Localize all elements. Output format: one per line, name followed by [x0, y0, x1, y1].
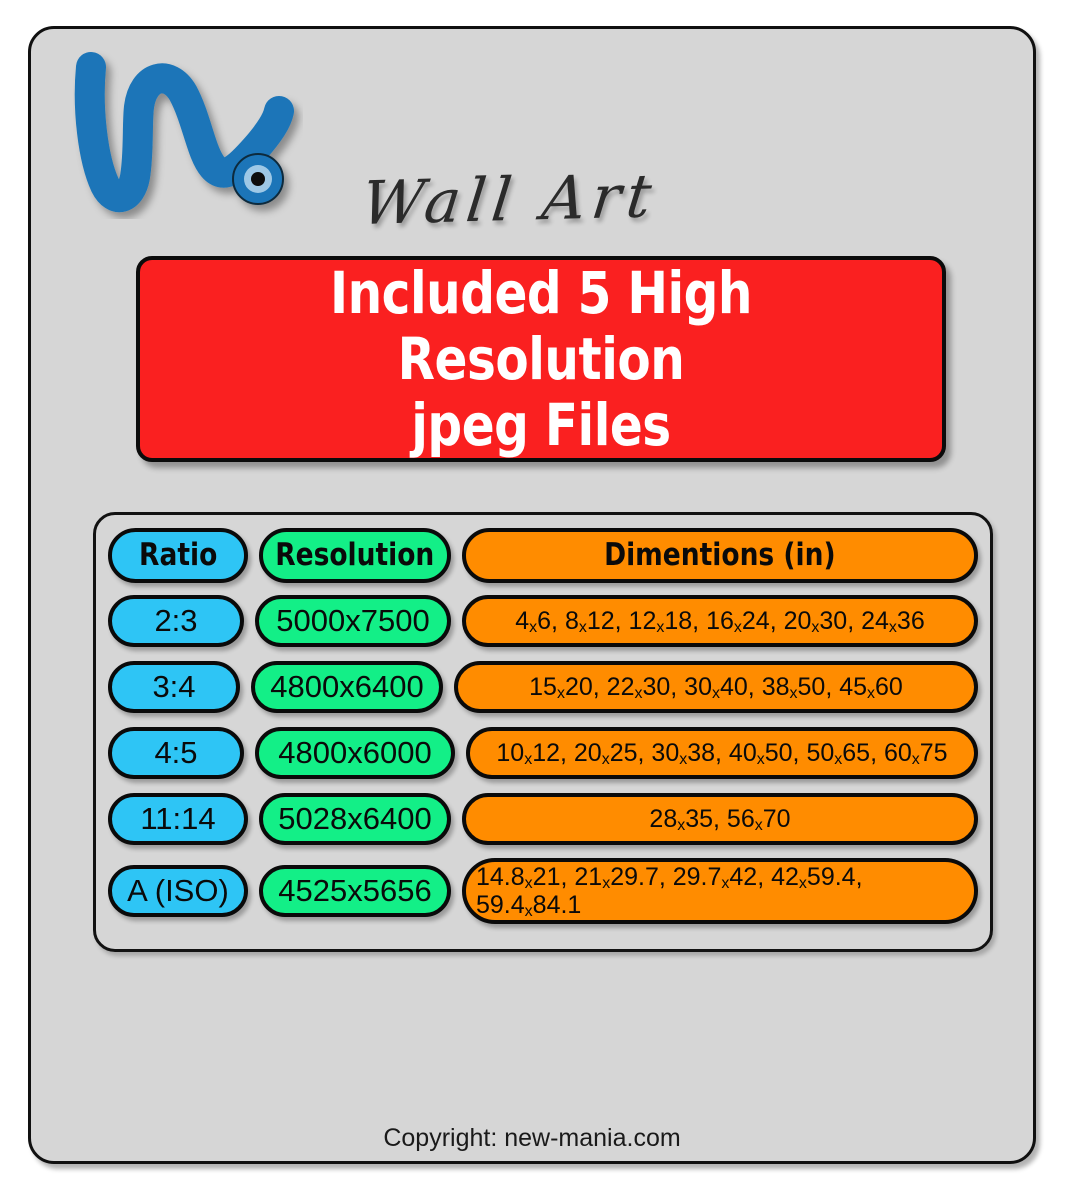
cell-resolution-value: 4525x5656 — [278, 873, 431, 909]
cell-ratio-value: 2:3 — [154, 603, 197, 639]
cell-resolution: 5028x6400 — [259, 793, 451, 845]
cell-resolution-value: 5000x7500 — [276, 603, 429, 639]
cell-dimensions-value: 10x12, 20x25, 30x38, 40x50, 50x65, 60x75 — [486, 739, 957, 767]
cell-dimensions: 15x20, 22x30, 30x40, 38x50, 45x60 — [454, 661, 978, 713]
cell-ratio: A (ISO) — [108, 865, 248, 917]
cell-dimensions-value: 15x20, 22x30, 30x40, 38x50, 45x60 — [519, 673, 913, 701]
cell-dimensions: 4x6, 8x12, 12x18, 16x24, 20x30, 24x36 — [462, 595, 978, 647]
cell-resolution: 4800x6400 — [251, 661, 443, 713]
cell-resolution-value: 5028x6400 — [278, 801, 431, 837]
resolution-table: Ratio Resolution Dimentions (in) 2:3 500… — [93, 512, 993, 952]
table-row: 2:3 5000x7500 4x6, 8x12, 12x18, 16x24, 2… — [108, 591, 978, 651]
headline-banner-text: Included 5 High Resolution jpeg Files — [168, 260, 914, 458]
poster-card: Wall Art Included 5 High Resolution jpeg… — [28, 26, 1036, 1164]
column-header-dimensions-label: Dimentions (in) — [604, 537, 835, 573]
headline-line-1: Included 5 High Resolution — [330, 259, 752, 393]
cell-resolution-value: 4800x6400 — [270, 669, 423, 705]
cell-resolution: 4525x5656 — [259, 865, 451, 917]
brand-script-title: Wall Art — [356, 158, 788, 259]
column-header-resolution: Resolution — [259, 528, 451, 583]
cell-ratio-value: A (ISO) — [127, 873, 229, 909]
cell-ratio: 4:5 — [108, 727, 244, 779]
table-row: 3:4 4800x6400 15x20, 22x30, 30x40, 38x50… — [108, 657, 978, 717]
cell-resolution-value: 4800x6000 — [278, 735, 431, 771]
table-row: 11:14 5028x6400 28x35, 56x70 — [108, 789, 978, 849]
cell-resolution: 5000x7500 — [255, 595, 451, 647]
cell-ratio: 3:4 — [108, 661, 240, 713]
cell-ratio: 2:3 — [108, 595, 244, 647]
column-header-dimensions: Dimentions (in) — [462, 528, 978, 583]
cell-dimensions-value: 4x6, 8x12, 12x18, 16x24, 20x30, 24x36 — [505, 607, 934, 635]
column-header-ratio-label: Ratio — [139, 537, 217, 573]
cell-dimensions: 10x12, 20x25, 30x38, 40x50, 50x65, 60x75 — [466, 727, 978, 779]
headline-line-2: jpeg Files — [411, 391, 670, 459]
cell-ratio-value: 11:14 — [140, 801, 215, 837]
cell-dimensions: 14.8x21, 21x29.7, 29.7x42, 42x59.4, 59.4… — [462, 858, 978, 924]
cell-ratio-value: 4:5 — [154, 735, 197, 771]
cell-resolution: 4800x6000 — [255, 727, 455, 779]
cell-dimensions: 28x35, 56x70 — [462, 793, 978, 845]
cell-ratio-value: 3:4 — [152, 669, 195, 705]
column-header-ratio: Ratio — [108, 528, 248, 583]
wave-squiggle-logo-icon — [73, 49, 303, 219]
column-header-resolution-label: Resolution — [275, 537, 434, 573]
cell-ratio: 11:14 — [108, 793, 248, 845]
copyright-notice: Copyright: new-mania.com — [31, 1124, 1033, 1153]
table-row: 4:5 4800x6000 10x12, 20x25, 30x38, 40x50… — [108, 723, 978, 783]
cell-dimensions-value: 28x35, 56x70 — [639, 805, 800, 833]
headline-banner: Included 5 High Resolution jpeg Files — [136, 256, 946, 462]
table-header-row: Ratio Resolution Dimentions (in) — [108, 525, 978, 585]
cell-dimensions-value: 14.8x21, 21x29.7, 29.7x42, 42x59.4, 59.4… — [466, 863, 974, 919]
table-row: A (ISO) 4525x5656 14.8x21, 21x29.7, 29.7… — [108, 855, 978, 927]
